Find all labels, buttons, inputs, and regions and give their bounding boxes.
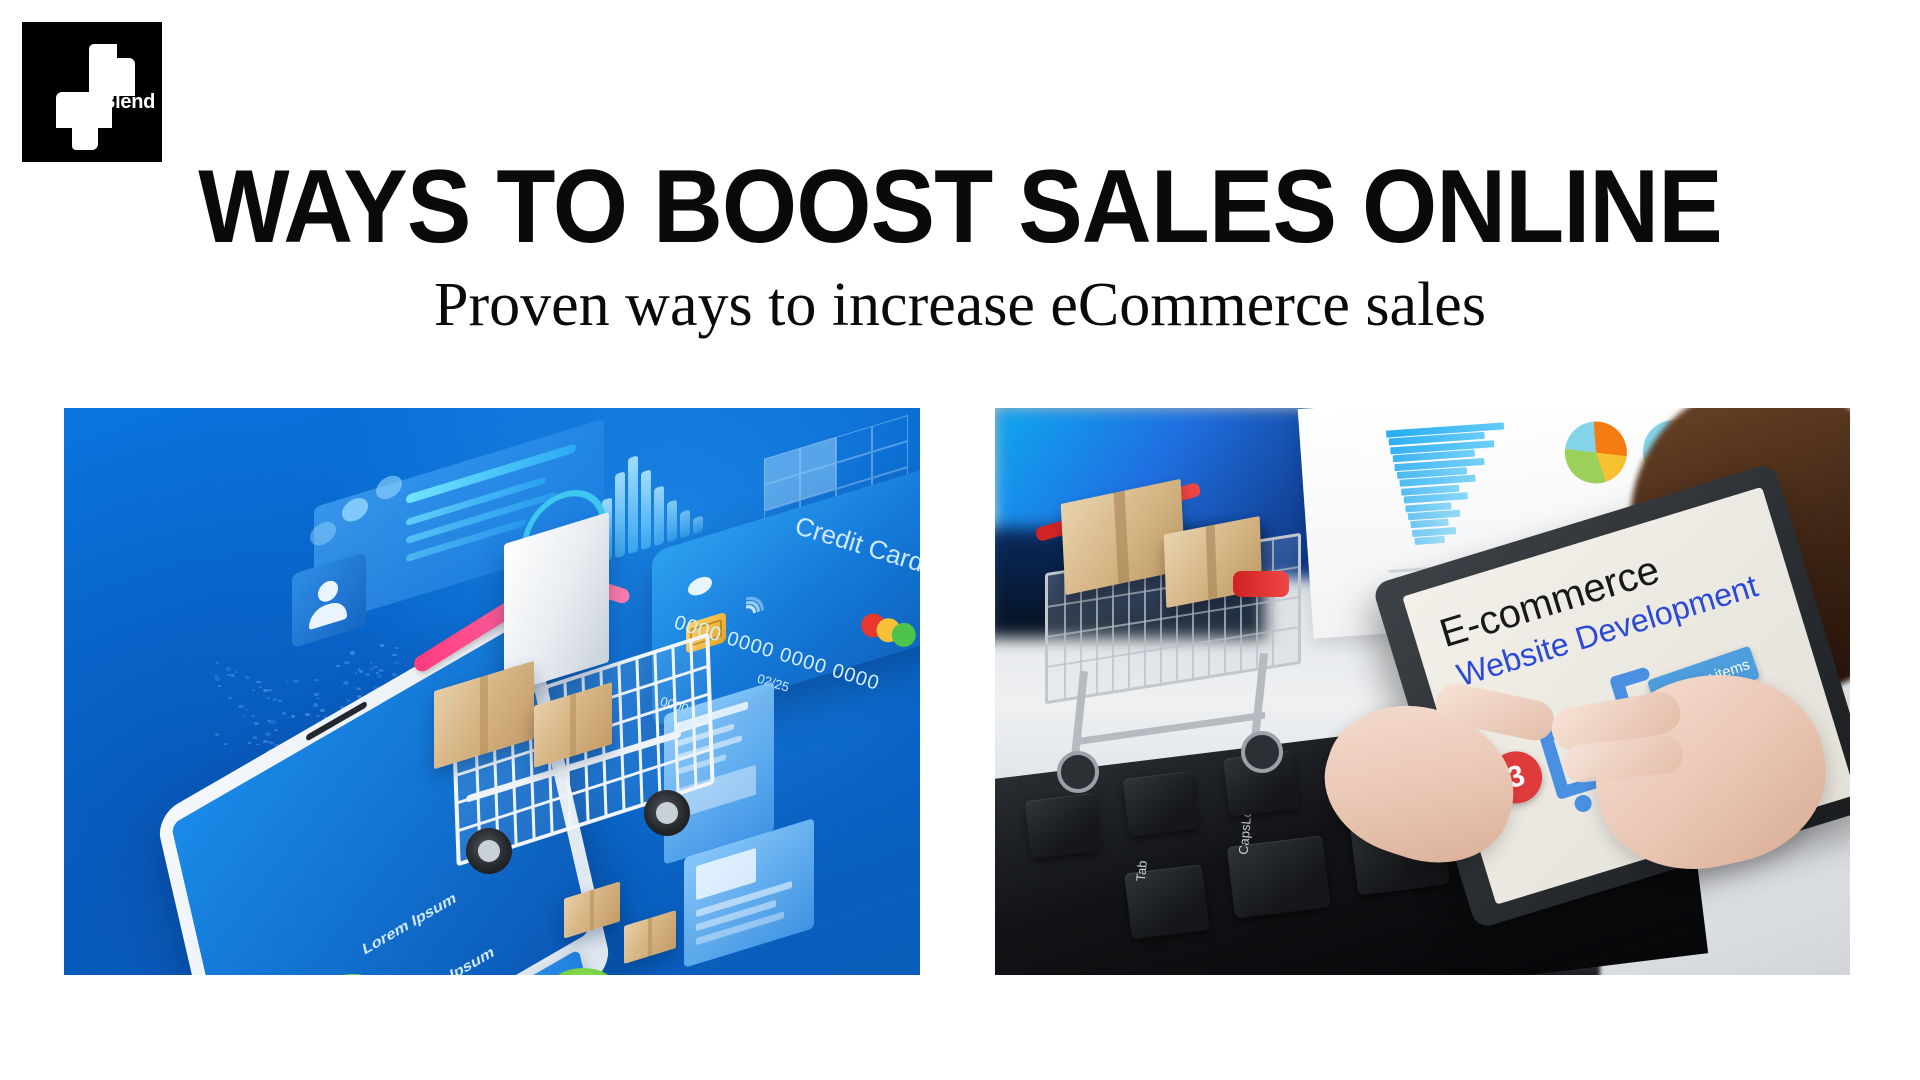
trolley-wheel-right bbox=[1241, 731, 1283, 773]
trolley-base-bar bbox=[1075, 712, 1265, 746]
key-tab-label: Tab bbox=[1133, 860, 1150, 882]
cart-wheel-right bbox=[644, 790, 690, 836]
key-capslock[interactable]: CapsLock bbox=[1227, 835, 1331, 918]
logo-wordmark: Blend bbox=[101, 91, 155, 114]
ecommerce-isometric-illustration: Credit Card 0000 0000 0000 0000 0000 02/… bbox=[64, 408, 920, 975]
brand-logo[interactable]: Blend bbox=[22, 22, 162, 162]
shopping-trolley bbox=[1015, 463, 1345, 793]
page-title: WAYS TO BOOST SALES ONLINE bbox=[67, 155, 1853, 259]
ecommerce-tablet-photo: Tab CapsLock Shift E-commerce Website De… bbox=[995, 408, 1850, 975]
credit-card-label: Credit Card bbox=[791, 510, 920, 579]
trolley-wheel-left bbox=[1057, 751, 1099, 793]
cart-wheel-left bbox=[466, 828, 512, 874]
card-network-icon bbox=[858, 611, 920, 655]
checkmark-icon bbox=[570, 969, 593, 975]
logo-glyph-lower-left bbox=[72, 122, 98, 150]
trolley-corner-red bbox=[1233, 571, 1289, 597]
bar-chart-graphic bbox=[1386, 422, 1524, 551]
key-tab[interactable]: Tab bbox=[1124, 864, 1209, 939]
key-blank-1[interactable] bbox=[1025, 793, 1102, 859]
page-subtitle: Proven ways to increase eCommerce sales bbox=[0, 272, 1920, 338]
pie-chart-1 bbox=[1563, 419, 1629, 485]
